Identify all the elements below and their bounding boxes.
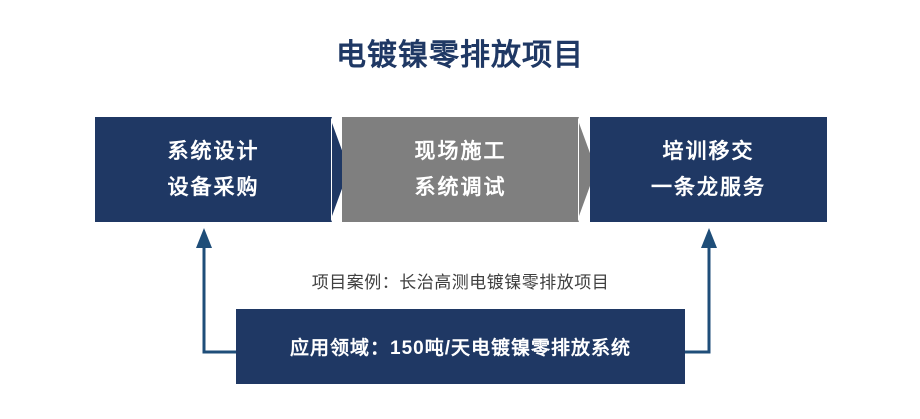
stage-box-training-handover: 培训移交 一条龙服务 bbox=[590, 117, 827, 222]
application-field-box: 应用领域：150吨/天电镀镍零排放系统 bbox=[236, 309, 685, 384]
stage-box-system-design: 系统设计 设备采购 bbox=[95, 117, 332, 222]
arrow-up-left-icon bbox=[196, 228, 236, 352]
application-field-text: 应用领域：150吨/天电镀镍零排放系统 bbox=[290, 333, 631, 360]
stage-line-2: 一条龙服务 bbox=[651, 170, 766, 206]
stage-line-1: 培训移交 bbox=[663, 134, 755, 170]
stage-box-site-construction: 现场施工 系统调试 bbox=[342, 117, 579, 222]
stage-line-2: 设备采购 bbox=[168, 170, 260, 206]
stage-line-1: 现场施工 bbox=[415, 134, 507, 170]
stage-line-2: 系统调试 bbox=[415, 170, 507, 206]
page-title: 电镀镍零排放项目 bbox=[0, 36, 920, 76]
stage-line-1: 系统设计 bbox=[168, 134, 260, 170]
case-caption: 项目案例：长治高测电镀镍零排放项目 bbox=[236, 271, 685, 295]
arrow-up-right-icon bbox=[685, 228, 717, 352]
